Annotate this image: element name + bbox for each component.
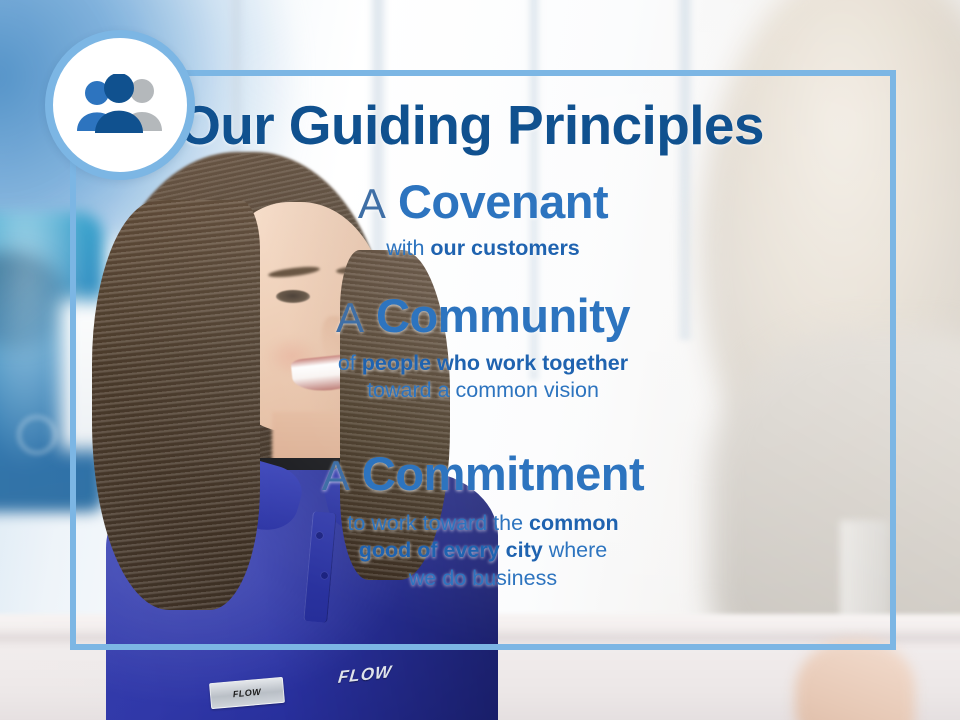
subtitle-emphasis: people who work together	[362, 351, 628, 375]
principle-title: A Commitment	[70, 450, 896, 498]
principle-article: A	[358, 180, 386, 227]
subtitle-emphasis: good of every city	[359, 538, 543, 562]
name-badge-text: FLOW	[232, 687, 261, 699]
principle-article: A	[322, 452, 350, 499]
principle-covenant: A Covenant with our customers	[70, 178, 960, 262]
subtitle-line: good of every city where	[70, 537, 896, 565]
subtitle-line: we do business	[70, 565, 896, 593]
subtitle-text: to work toward the	[347, 511, 529, 535]
blurred-customer-hand	[795, 640, 915, 720]
principle-word: Community	[376, 289, 630, 342]
guiding-principles-graphic: FLOW FLOW	[0, 0, 960, 720]
subtitle-line: with our customers	[70, 235, 896, 263]
subtitle-emphasis: our customers	[430, 236, 579, 260]
principle-word: Commitment	[362, 447, 644, 500]
subtitle-line: toward a common vision	[70, 377, 896, 405]
subtitle-text: we do business	[409, 566, 557, 590]
subtitle-text: toward a common vision	[367, 378, 599, 402]
subtitle-text: with	[386, 236, 430, 260]
principle-community: A Community of people who work togethert…	[70, 292, 960, 405]
principle-title: A Community	[70, 292, 896, 340]
subtitle-line: to work toward the common	[70, 510, 896, 538]
principle-article: A	[336, 294, 364, 341]
principle-subtitle: with our customers	[70, 235, 896, 263]
subtitle-line: of people who work together	[70, 350, 896, 378]
principles-content: Our Guiding Principles A Covenant with o…	[70, 70, 896, 650]
principle-subtitle: to work toward the commongood of every c…	[70, 510, 896, 593]
principle-title: A Covenant	[70, 178, 896, 226]
subtitle-emphasis: common	[529, 511, 619, 535]
principle-word: Covenant	[398, 175, 608, 228]
principle-commitment: A Commitment to work toward the commongo…	[70, 450, 916, 592]
subtitle-text: of	[338, 351, 362, 375]
subtitle-text: where	[543, 538, 608, 562]
principle-subtitle: of people who work togethertoward a comm…	[70, 350, 896, 405]
people-group-icon	[45, 30, 195, 180]
